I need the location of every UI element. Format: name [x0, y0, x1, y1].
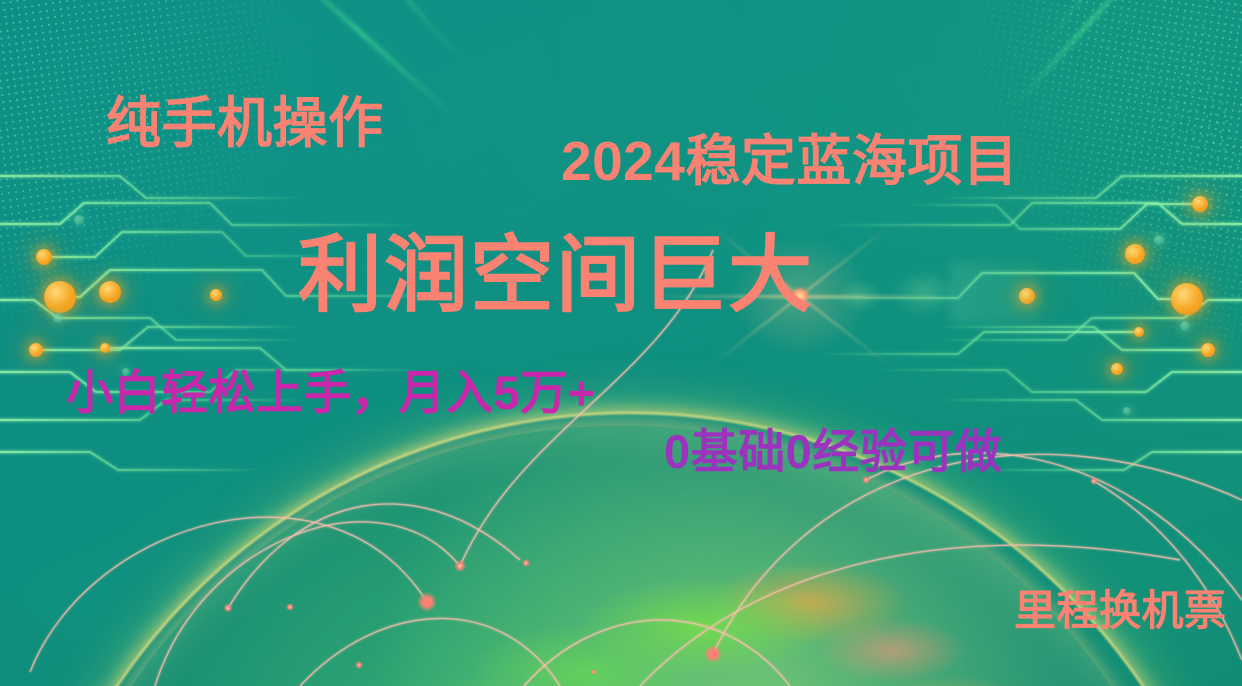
- tagline-left: 纯手机操作: [106, 96, 384, 151]
- promo-banner: 纯手机操作 2024稳定蓝海项目 利润空间巨大 小白轻松上手，月入5万+ 0基础…: [0, 0, 1242, 686]
- footer-badge: 里程换机票: [1014, 590, 1227, 632]
- subline-one: 小白轻松上手，月入5万+: [66, 369, 596, 416]
- tagline-right: 2024稳定蓝海项目: [561, 134, 1018, 189]
- subline-two: 0基础0经验可做: [664, 428, 1002, 475]
- headline: 利润空间巨大: [298, 233, 814, 317]
